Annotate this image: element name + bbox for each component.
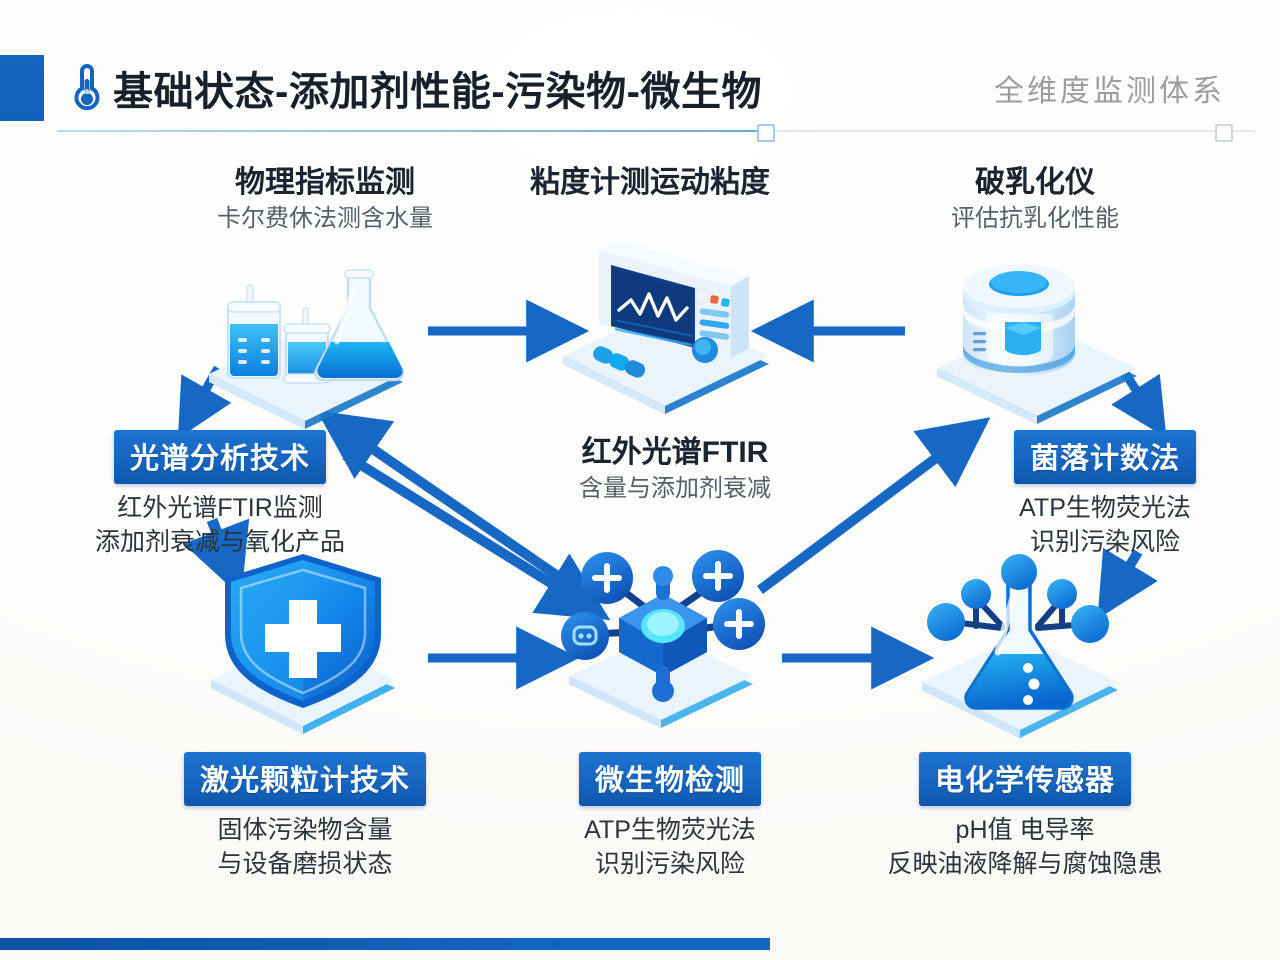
beakers-icon: [185, 250, 425, 420]
badge-laser-particle-counter[interactable]: 激光颗粒计技术: [184, 752, 426, 806]
shield-icon: [195, 548, 410, 733]
node-mid-center-title: 红外光谱FTIR: [515, 435, 835, 470]
node-mid-center-desc: 含量与添加剂衰减: [515, 474, 835, 505]
badge-spectrum-analysis[interactable]: 光谱分析技术: [114, 430, 326, 484]
node-top-right-title: 破乳化仪: [875, 165, 1195, 200]
node-top-left-title: 物理指标监测: [170, 165, 480, 200]
node-top-left-desc: 卡尔费休法测含水量: [170, 204, 480, 235]
badge-electrochemical-sensor[interactable]: 电化学传感器: [919, 752, 1131, 806]
node-mid-left-desc-1: 红外光谱FTIR监测: [45, 492, 395, 524]
node-top-right-text: 破乳化仪 评估抗乳化性能: [875, 165, 1195, 235]
node-bot-left-desc-1: 固体污染物含量: [130, 814, 480, 846]
node-bot-center-desc-1: ATP生物荧光法: [520, 814, 820, 846]
node-bot-right-desc-2: 反映油液降解与腐蚀隐患: [845, 848, 1205, 880]
node-mid-right-text: 菌落计数法 ATP生物荧光法 识别污染风险: [955, 430, 1255, 558]
slide-canvas: 基础状态-添加剂性能-污染物-微生物 全维度监测体系: [0, 0, 1280, 960]
node-top-right-desc: 评估抗乳化性能: [875, 204, 1195, 235]
badge-colony-count[interactable]: 菌落计数法: [1014, 430, 1196, 484]
network-node-icon: [555, 548, 770, 728]
node-bot-center-text: 微生物检测 ATP生物荧光法 识别污染风险: [520, 752, 820, 880]
node-top-left-text: 物理指标监测 卡尔费休法测含水量: [170, 165, 480, 235]
node-bot-right-desc-1: pH值 电导率: [845, 814, 1205, 846]
node-bot-center-desc-2: 识别污染风险: [520, 848, 820, 880]
monitor-icon: [545, 232, 785, 417]
footer-accent-bar: [0, 938, 770, 950]
node-mid-left-text: 光谱分析技术 红外光谱FTIR监测 添加剂衰减与氧化产品: [45, 430, 395, 558]
node-bot-right-text: 电化学传感器 pH值 电导率 反映油液降解与腐蚀隐患: [845, 752, 1205, 880]
node-top-center-title: 粘度计测运动粘度: [490, 165, 810, 200]
node-bot-left-text: 激光颗粒计技术 固体污染物含量 与设备磨损状态: [130, 752, 480, 880]
node-top-center-text: 粘度计测运动粘度: [490, 165, 810, 200]
node-mid-right-desc-1: ATP生物荧光法: [955, 492, 1255, 524]
demulsifier-icon: [925, 248, 1150, 418]
node-bot-left-desc-2: 与设备磨损状态: [130, 848, 480, 880]
molecule-flask-icon: [910, 548, 1130, 738]
badge-microbial-detection[interactable]: 微生物检测: [579, 752, 761, 806]
node-mid-center-text: 红外光谱FTIR 含量与添加剂衰减: [515, 435, 835, 505]
